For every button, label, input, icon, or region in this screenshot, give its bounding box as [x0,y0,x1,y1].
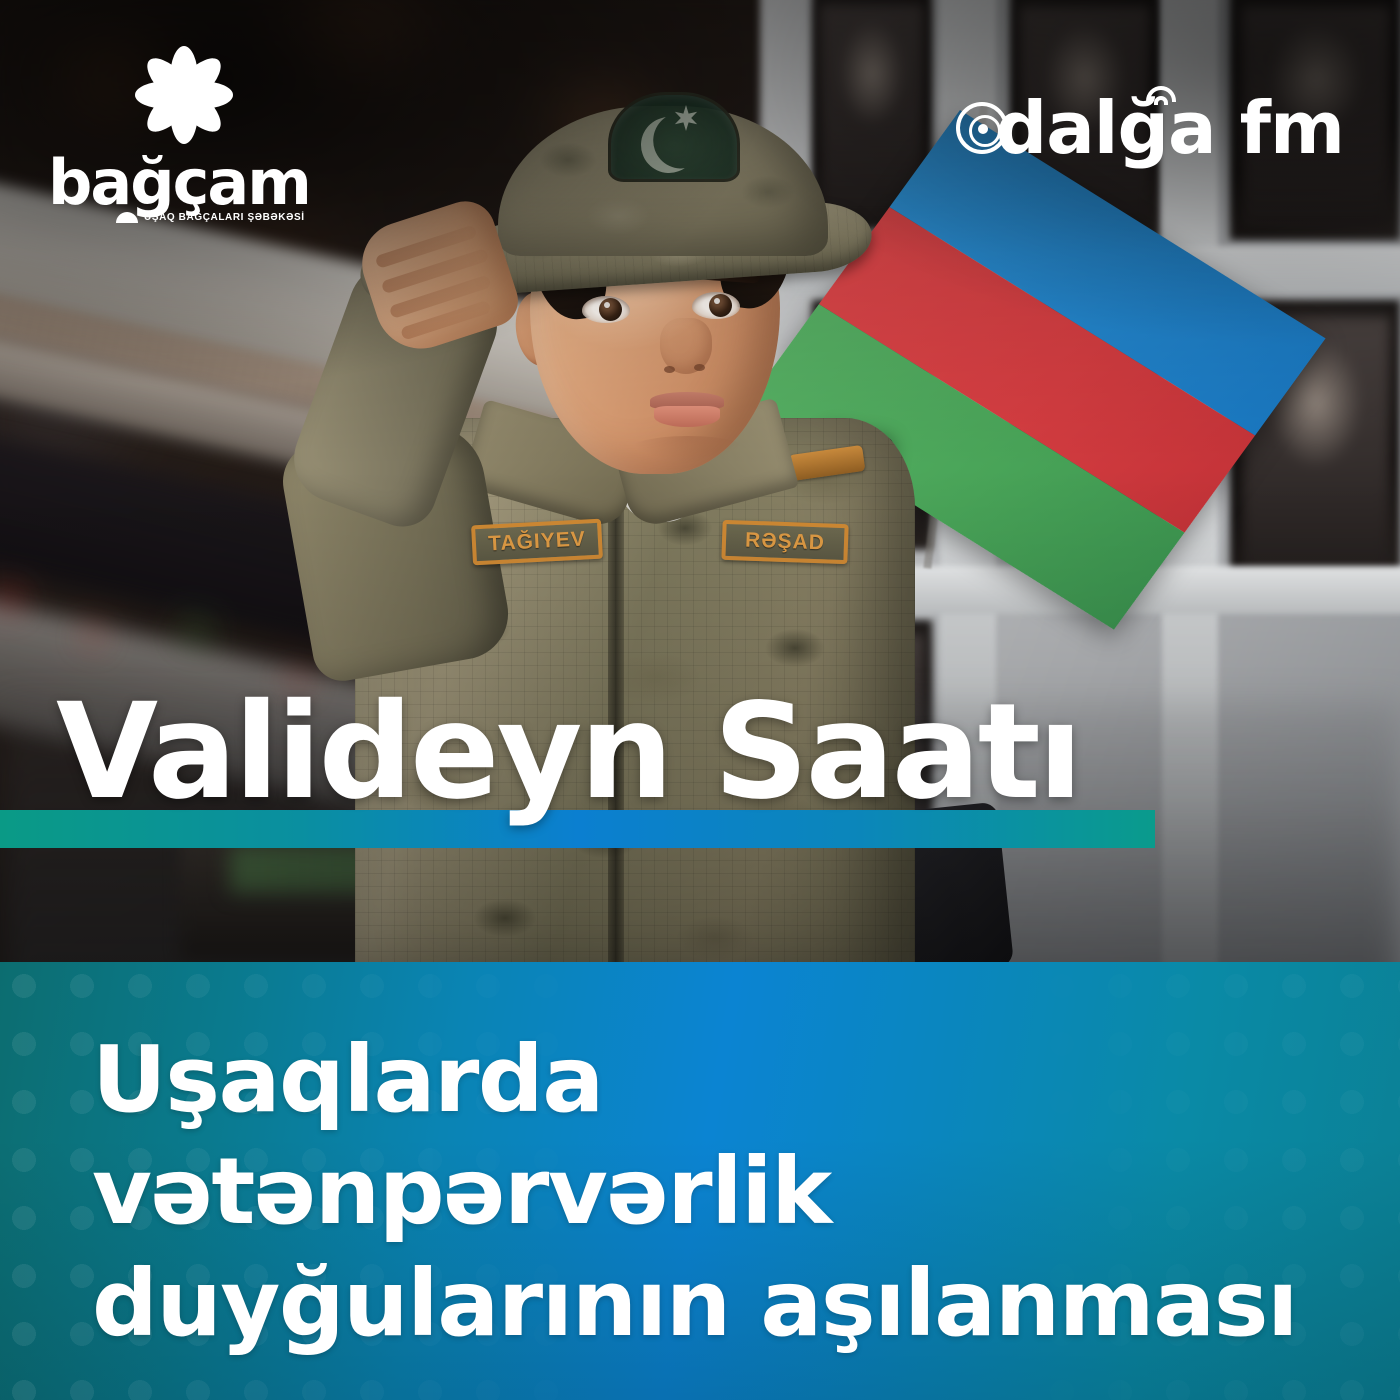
bagcam-wordmark: bağçam [48,152,298,214]
arch-icon [116,212,138,223]
dalga-fm-wordmark: dalğa fm [996,92,1344,164]
dalga-fm-logo[interactable]: dalğa fm [956,92,1344,164]
bagcam-logo[interactable]: b bağçam UŞAQ BAĞÇALARI ŞƏBƏKƏSİ [48,40,298,235]
podcast-cover-poster: TAĞIYEV RƏŞAD b bağçam UŞAQ BAĞÇALARI ŞƏ… [0,0,1400,1400]
bottom-panel: Uşaqlarda vətənpərvərlik duyğularının aş… [0,962,1400,1400]
subtitle-line-2: duyğularının aşılanması [92,1248,1322,1360]
page-title: Valideyn Saatı [56,686,1080,818]
bagcam-tagline-row: UŞAQ BAĞÇALARI ŞƏBƏKƏSİ [116,212,305,223]
episode-subtitle: Uşaqlarda vətənpərvərlik duyğularının aş… [92,1024,1322,1360]
mark-letter: b [160,66,194,118]
subtitle-line-1: Uşaqlarda vətənpərvərlik [92,1024,1322,1248]
wave-arc-inner-icon [1154,96,1168,105]
pinwheel-flower-icon: b [122,40,232,150]
bagcam-tagline: UŞAQ BAĞÇALARI ŞƏBƏKƏSİ [144,212,305,223]
